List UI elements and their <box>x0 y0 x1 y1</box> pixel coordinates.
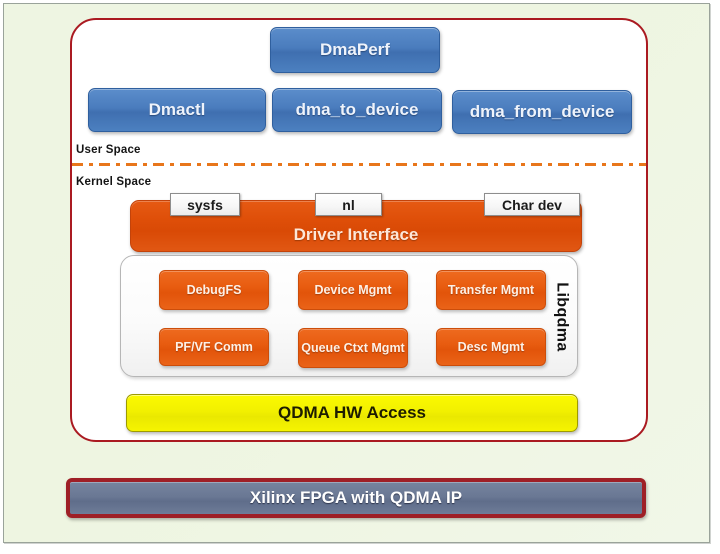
libqdma-label: Libqdma <box>549 256 575 378</box>
kernel-space-label: Kernel Space <box>76 176 151 188</box>
libqdma-module-device-mgmt[interactable]: Device Mgmt <box>298 270 408 310</box>
xilinx-fpga-label: Xilinx FPGA with QDMA IP <box>250 488 462 508</box>
xilinx-fpga-bar[interactable]: Xilinx FPGA with QDMA IP <box>66 478 646 518</box>
user-app-label: Dmactl <box>149 100 206 119</box>
module-label: Transfer Mgmt <box>448 283 534 297</box>
user-kernel-divider <box>72 163 646 166</box>
user-app-label: dma_from_device <box>470 102 615 121</box>
libqdma-container: DebugFS Device Mgmt Transfer Mgmt PF/VF … <box>120 255 578 377</box>
user-space-label: User Space <box>76 144 141 156</box>
qdma-hw-access-bar[interactable]: QDMA HW Access <box>126 394 578 432</box>
entry-point-char-dev[interactable]: Char dev <box>484 193 580 216</box>
module-label: Queue Ctxt Mgmt <box>301 341 404 355</box>
libqdma-module-pf-vf-comm[interactable]: PF/VF Comm <box>159 328 269 366</box>
user-app-dma-to-device[interactable]: dma_to_device <box>272 88 442 132</box>
user-app-label: dma_to_device <box>296 100 419 119</box>
libqdma-label-text: Libqdma <box>553 282 571 351</box>
module-label: Device Mgmt <box>314 283 391 297</box>
user-app-label: DmaPerf <box>320 40 390 59</box>
entry-point-label: sysfs <box>187 197 223 213</box>
qdma-hw-access-label: QDMA HW Access <box>278 403 426 423</box>
driver-interface-label: Driver Interface <box>294 225 419 244</box>
entry-point-nl[interactable]: nl <box>315 193 382 216</box>
entry-point-sysfs[interactable]: sysfs <box>170 193 240 216</box>
entry-point-label: Char dev <box>502 197 562 213</box>
diagram-canvas: DmaPerf Dmactl dma_to_device dma_from_de… <box>0 0 720 554</box>
libqdma-module-debugfs[interactable]: DebugFS <box>159 270 269 310</box>
entry-point-label: nl <box>342 197 354 213</box>
user-app-dma-from-device[interactable]: dma_from_device <box>452 90 632 134</box>
libqdma-module-queue-ctxt-mgmt[interactable]: Queue Ctxt Mgmt <box>298 328 408 368</box>
module-label: PF/VF Comm <box>175 340 253 354</box>
libqdma-module-transfer-mgmt[interactable]: Transfer Mgmt <box>436 270 546 310</box>
user-app-dmaperf[interactable]: DmaPerf <box>270 27 440 73</box>
user-app-dmactl[interactable]: Dmactl <box>88 88 266 132</box>
libqdma-module-desc-mgmt[interactable]: Desc Mgmt <box>436 328 546 366</box>
module-label: Desc Mgmt <box>458 340 525 354</box>
module-label: DebugFS <box>187 283 242 297</box>
